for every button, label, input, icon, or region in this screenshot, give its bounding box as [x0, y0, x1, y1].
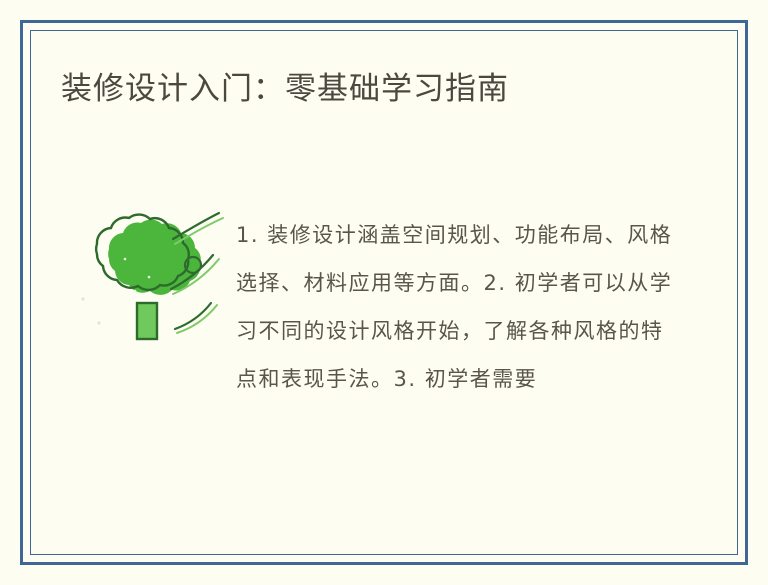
body-paragraph: 1. 装修设计涵盖空间规划、功能布局、风格选择、材料应用等方面。2. 初学者可以… — [236, 211, 676, 471]
bordered-card-inner: 装修设计入门：零基础学习指南 — [30, 30, 738, 555]
bordered-card-outer: 装修设计入门：零基础学习指南 — [20, 20, 748, 565]
tree-illustration — [53, 199, 243, 349]
page-title: 装修设计入门：零基础学习指南 — [61, 69, 509, 109]
